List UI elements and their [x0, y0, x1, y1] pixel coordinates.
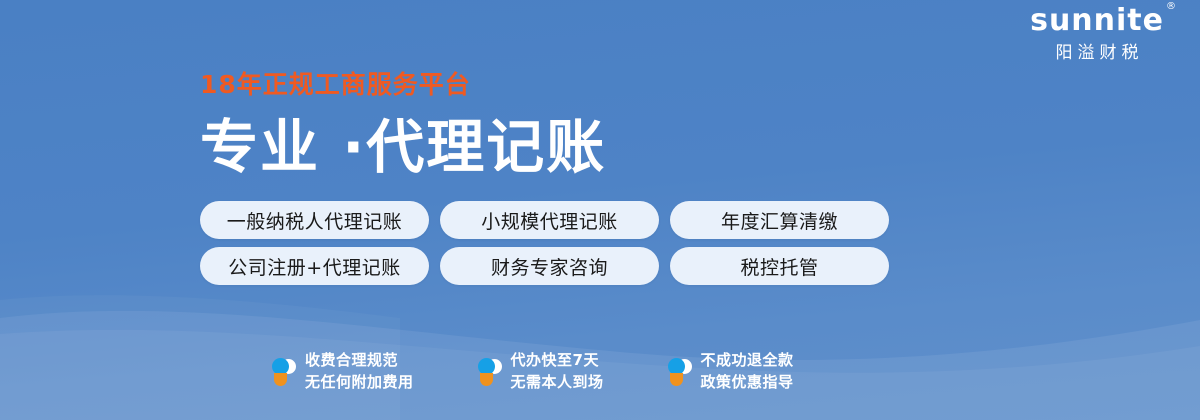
brand-wordmark: sunnite ® — [1030, 6, 1164, 36]
badge-icon-orange-base — [274, 373, 287, 386]
feature-line-3b: 政策优惠指导 — [701, 372, 794, 394]
registered-trademark-icon: ® — [1166, 2, 1177, 12]
feature-line-1b: 无任何附加费用 — [305, 372, 414, 394]
promo-banner: sunnite ® 阳溢财税 18年正规工商服务平台 专业 ·代理记账 一般纳税… — [0, 0, 1200, 420]
brand-logo[interactable]: sunnite ® 阳溢财税 — [1030, 6, 1164, 62]
page-title: 专业 ·代理记账 — [200, 117, 606, 178]
headline-block: 18年正规工商服务平台 专业 ·代理记账 — [200, 72, 606, 178]
feature-item-2: 代办快至7天 无需本人到场 — [478, 350, 604, 394]
service-pill-6[interactable]: 税控托管 — [670, 247, 889, 285]
feature-line-1a: 收费合理规范 — [305, 350, 414, 372]
badge-icon — [272, 357, 296, 387]
service-pill-grid: 一般纳税人代理记账 小规模代理记账 年度汇算清缴 公司注册+代理记账 财务专家咨… — [200, 201, 889, 285]
service-pill-5[interactable]: 财务专家咨询 — [440, 247, 659, 285]
service-pill-3[interactable]: 年度汇算清缴 — [670, 201, 889, 239]
feature-line-2a: 代办快至7天 — [511, 350, 604, 372]
service-pill-1[interactable]: 一般纳税人代理记账 — [200, 201, 429, 239]
service-pill-2[interactable]: 小规模代理记账 — [440, 201, 659, 239]
feature-line-3a: 不成功退全款 — [701, 350, 794, 372]
service-pill-4[interactable]: 公司注册+代理记账 — [200, 247, 429, 285]
brand-chinese-name: 阳溢财税 — [1030, 45, 1164, 62]
feature-item-1: 收费合理规范 无任何附加费用 — [272, 350, 414, 394]
badge-icon-orange-base — [480, 373, 493, 386]
brand-wordmark-text: sunnite — [1030, 3, 1164, 38]
feature-strip: 收费合理规范 无任何附加费用 代办快至7天 无需本人到场 不成功退全款 — [272, 350, 794, 394]
feature-text-2: 代办快至7天 无需本人到场 — [511, 350, 604, 394]
feature-text-3: 不成功退全款 政策优惠指导 — [701, 350, 794, 394]
feature-text-1: 收费合理规范 无任何附加费用 — [305, 350, 414, 394]
feature-line-2b: 无需本人到场 — [511, 372, 604, 394]
badge-icon — [668, 357, 692, 387]
badge-icon — [478, 357, 502, 387]
kicker-text: 18年正规工商服务平台 — [200, 72, 606, 97]
badge-icon-orange-base — [670, 373, 683, 386]
feature-item-3: 不成功退全款 政策优惠指导 — [668, 350, 794, 394]
